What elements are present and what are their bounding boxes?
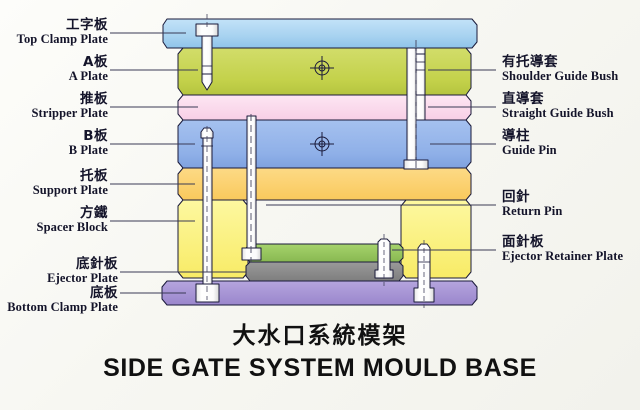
part-return-pin-shank	[203, 138, 212, 284]
label-guide-pin-en: Guide Pin	[502, 144, 557, 158]
label-top-clamp-plate[interactable]: 工字板 Top Clamp Plate	[17, 18, 108, 46]
label-a-plate-cn: A板	[69, 55, 108, 70]
part-ejector-pin-head	[242, 248, 261, 260]
label-straight-guide-bush[interactable]: 直導套 Straight Guide Bush	[502, 92, 614, 120]
label-support-plate-en: Support Plate	[33, 184, 108, 198]
mould-base-diagram: 工字板 Top Clamp Plate A板 A Plate 推板 Stripp…	[0, 0, 640, 410]
label-top-clamp-plate-cn: 工字板	[17, 18, 108, 33]
label-a-plate-en: A Plate	[69, 70, 108, 84]
label-return-pin[interactable]: 回針 Return Pin	[502, 190, 562, 218]
diagram-title: 大水口系統模架 SIDE GATE SYSTEM MOULD BASE	[0, 316, 640, 383]
part-straight-guide-bush	[416, 95, 425, 120]
label-straight-guide-bush-cn: 直導套	[502, 92, 614, 107]
label-ejector-retainer-plate[interactable]: 面針板 Ejector Retainer Plate	[502, 235, 623, 263]
part-shoulder-guide-bush	[416, 48, 425, 96]
label-top-clamp-plate-en: Top Clamp Plate	[17, 33, 108, 47]
label-spacer-block-en: Spacer Block	[37, 221, 108, 235]
label-support-plate-cn: 托板	[33, 169, 108, 184]
label-shoulder-guide-bush[interactable]: 有托導套 Shoulder Guide Bush	[502, 55, 618, 83]
part-stripper-plate	[178, 95, 471, 120]
part-return-pin-foot	[196, 284, 219, 302]
part-spacer-block-right	[401, 200, 471, 278]
label-spacer-block[interactable]: 方鐵 Spacer Block	[37, 206, 108, 234]
label-shoulder-guide-bush-cn: 有托導套	[502, 55, 618, 70]
label-guide-pin[interactable]: 導柱 Guide Pin	[502, 129, 557, 157]
label-straight-guide-bush-en: Straight Guide Bush	[502, 107, 614, 121]
part-support-plate	[178, 168, 471, 200]
label-support-plate[interactable]: 托板 Support Plate	[33, 169, 108, 197]
label-ejector-retainer-plate-en: Ejector Retainer Plate	[502, 250, 623, 264]
label-ejector-retainer-plate-cn: 面針板	[502, 235, 623, 250]
part-a-plate	[178, 48, 471, 95]
label-shoulder-guide-bush-en: Shoulder Guide Bush	[502, 70, 618, 84]
label-return-pin-cn: 回針	[502, 190, 562, 205]
diagram-title-cn: 大水口系統模架	[0, 316, 640, 350]
label-b-plate-cn: B板	[69, 129, 108, 144]
label-guide-pin-cn: 導柱	[502, 129, 557, 144]
part-shoulder-guide-bush-flange	[416, 48, 425, 54]
part-guide-pin	[407, 48, 416, 168]
label-ejector-plate-cn: 底針板	[47, 257, 118, 272]
label-b-plate-en: B Plate	[69, 144, 108, 158]
label-stripper-plate-cn: 推板	[31, 92, 108, 107]
label-ejector-plate-en: Ejector Plate	[47, 272, 118, 286]
label-ejector-plate[interactable]: 底針板 Ejector Plate	[47, 257, 118, 285]
part-sprue-bolt-shank	[202, 36, 212, 74]
diagram-title-en: SIDE GATE SYSTEM MOULD BASE	[0, 354, 640, 383]
label-spacer-block-cn: 方鐵	[37, 206, 108, 221]
label-return-pin-en: Return Pin	[502, 205, 562, 219]
label-bottom-clamp-plate[interactable]: 底板 Bottom Clamp Plate	[7, 286, 118, 314]
label-a-plate[interactable]: A板 A Plate	[69, 55, 108, 83]
label-bottom-clamp-plate-cn: 底板	[7, 286, 118, 301]
part-spacer-block-left	[178, 200, 248, 278]
label-stripper-plate[interactable]: 推板 Stripper Plate	[31, 92, 108, 120]
label-b-plate[interactable]: B板 B Plate	[69, 129, 108, 157]
part-ejector-pin-shank	[247, 116, 256, 256]
label-bottom-clamp-plate-en: Bottom Clamp Plate	[7, 301, 118, 315]
label-stripper-plate-en: Stripper Plate	[31, 107, 108, 121]
